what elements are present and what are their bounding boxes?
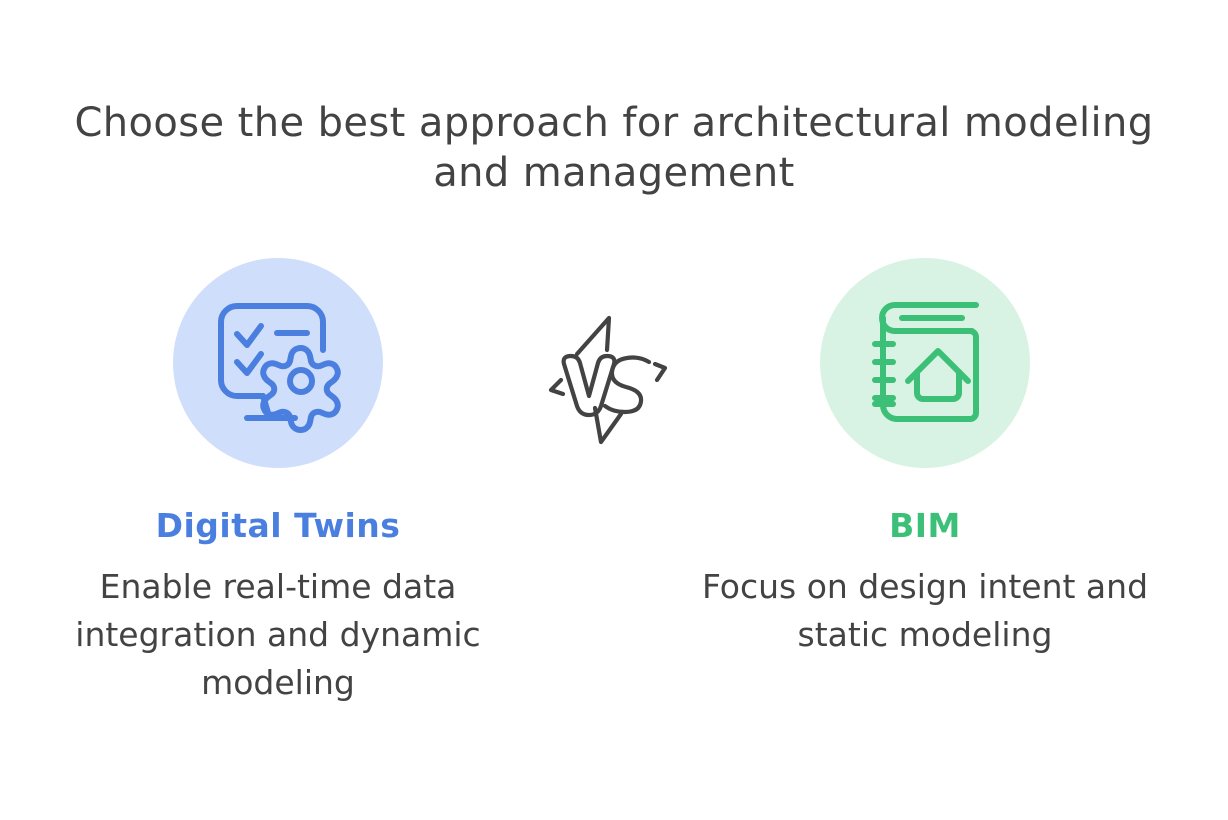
left-icon-badge <box>173 258 383 468</box>
left-term-label: Digital Twins <box>0 506 558 545</box>
right-term-label: BIM <box>645 506 1205 545</box>
monitor-checklist-gear-icon <box>203 288 353 438</box>
right-icon-badge <box>820 258 1030 468</box>
left-description: Enable real-time data integration and dy… <box>33 563 523 707</box>
notebook-house-icon <box>850 288 1000 438</box>
right-description: Focus on design intent and static modeli… <box>698 563 1153 659</box>
comparison-item-right: BIM Focus on design intent and static mo… <box>645 258 1205 659</box>
vs-spark-icon <box>531 298 691 458</box>
versus-divider <box>531 298 691 458</box>
comparison-slide: Choose the best approach for architectur… <box>0 0 1228 820</box>
comparison-item-left: Digital Twins Enable real-time data inte… <box>0 258 558 707</box>
page-title: Choose the best approach for architectur… <box>49 98 1179 198</box>
